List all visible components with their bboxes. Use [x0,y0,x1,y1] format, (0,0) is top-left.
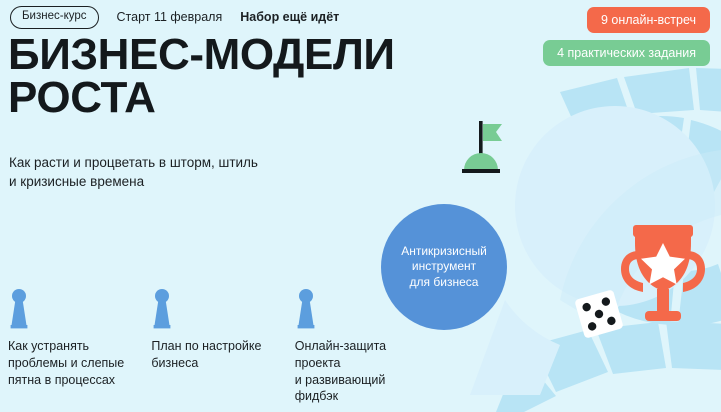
stat-badges: 9 онлайн-встреч 4 практических задания [543,7,710,66]
page-subtitle: Как расти и процветать в шторм, штиль и … [9,154,258,191]
badge-online-meetings: 9 онлайн-встреч [587,7,710,33]
badge-practical-tasks: 4 практических задания [543,40,710,66]
start-date-label: Старт 11 февраля [117,10,223,24]
course-promo-banner: Бизнес-курс Старт 11 февраля Набор ещё и… [0,0,721,412]
chess-pawn-icon [151,288,173,330]
feature-item: Онлайн-защита проекта и развивающий фидб… [295,288,408,405]
chess-pawn-icon [295,288,317,330]
feature-item: План по настройке бизнеса [151,288,294,405]
course-type-tag: Бизнес-курс [10,6,99,29]
dice-icon [568,283,630,345]
trophy-icon [617,223,709,331]
feature-list: Как устранять проблемы и слепые пятна в … [8,288,408,405]
flag-on-hill-icon [458,118,510,180]
chess-pawn-icon [8,288,30,330]
feature-text: План по настройке бизнеса [151,338,286,372]
enrollment-status-label: Набор ещё идёт [240,10,339,24]
feature-text: Онлайн-защита проекта и развивающий фидб… [295,338,400,405]
anticrisis-callout-text: Антикризисный инструмент для бизнеса [395,244,493,290]
page-title: Бизнес-модели роста [8,33,395,119]
meta-row: Бизнес-курс Старт 11 февраля Набор ещё и… [10,6,339,28]
feature-item: Как устранять проблемы и слепые пятна в … [8,288,151,405]
feature-text: Как устранять проблемы и слепые пятна в … [8,338,143,388]
